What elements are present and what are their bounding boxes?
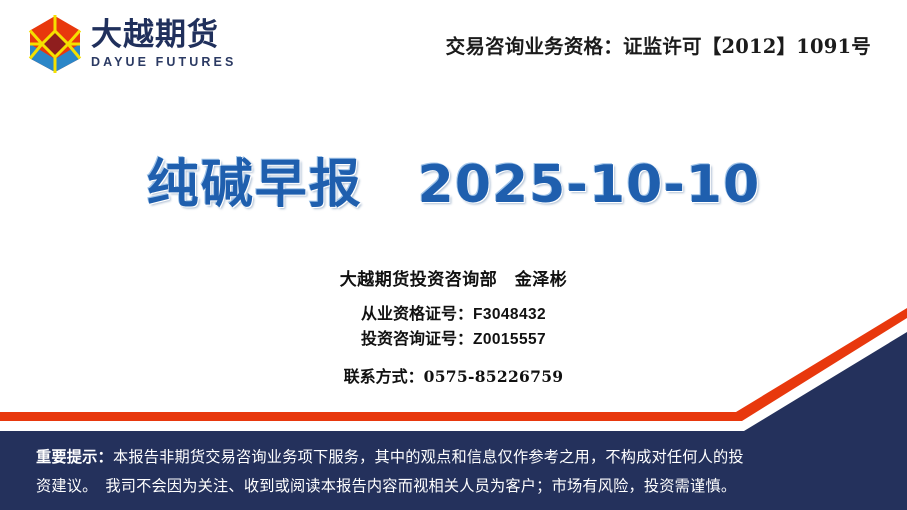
consulting-certificate-row: 投资咨询证号：Z0015557 (0, 327, 907, 352)
disclaimer-text: 重要提示：本报告非期货交易咨询业务项下服务，其中的观点和信息仅作参考之用，不构成… (36, 443, 876, 501)
slide-canvas: 大越期货 DAYUE FUTURES 交易咨询业务资格：证监许可【2012】10… (0, 0, 907, 510)
disclaimer-line-1: 重要提示：本报告非期货交易咨询业务项下服务，其中的观点和信息仅作参考之用，不构成… (36, 443, 876, 472)
contact-value: 0575-85226759 (424, 367, 564, 386)
author-info-block: 大越期货投资咨询部 金泽彬 从业资格证号：F3048432 投资咨询证号：Z00… (0, 272, 907, 387)
disclaimer-body-1: 本报告非期货交易咨询业务项下服务，其中的观点和信息仅作参考之用，不构成对任何人的… (113, 448, 744, 466)
author-department: 大越期货投资咨询部 金泽彬 (0, 272, 907, 289)
qualification-statement: 交易咨询业务资格：证监许可【2012】1091号 (446, 30, 871, 59)
page-title: 纯碱早报 2025-10-10 (0, 142, 907, 217)
logo-name-cn: 大越期货 (91, 20, 219, 52)
contact-label: 联系方式： (344, 367, 424, 386)
practice-certificate-value: F3048432 (473, 306, 546, 323)
consulting-certificate-label: 投资咨询证号： (361, 329, 473, 348)
logo-name-en: DAYUE FUTURES (91, 55, 236, 70)
disclaimer-line-2: 资建议。 我司不会因为关注、收到或阅读本报告内容而视相关人员为客户；市场有风险，… (36, 472, 876, 501)
logo-wordmark: 大越期货 DAYUE FUTURES (91, 18, 236, 70)
contact-row: 联系方式：0575-85226759 (0, 363, 907, 387)
practice-certificate-label: 从业资格证号： (361, 304, 473, 323)
slide-header: 大越期货 DAYUE FUTURES 交易咨询业务资格：证监许可【2012】10… (0, 0, 907, 96)
company-logo: 大越期货 DAYUE FUTURES (28, 15, 236, 73)
disclaimer-lead-label: 重要提示： (36, 448, 113, 466)
report-date: 2025-10-10 (418, 155, 761, 215)
logo-hexagon-icon (28, 15, 82, 73)
practice-certificate-row: 从业资格证号：F3048432 (0, 302, 907, 327)
consulting-certificate-value: Z0015557 (473, 331, 546, 348)
report-title: 纯碱早报 (147, 142, 363, 217)
